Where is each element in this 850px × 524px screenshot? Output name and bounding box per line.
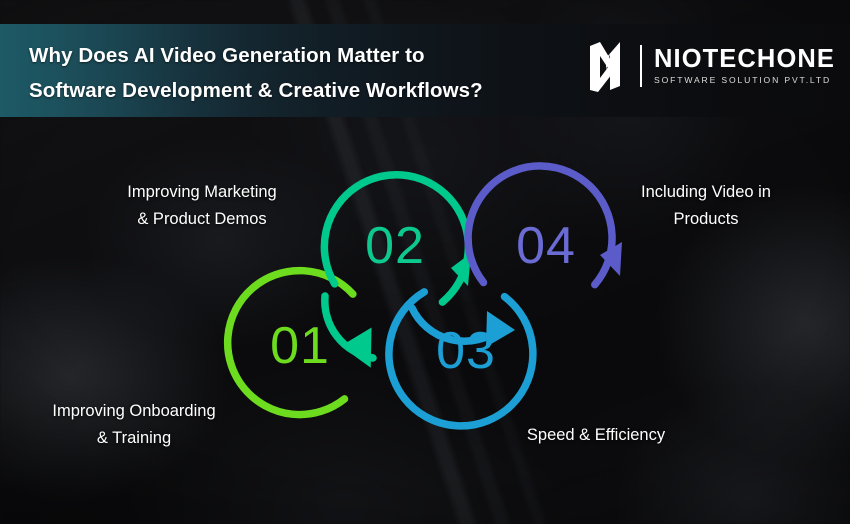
- step-number-01: 01: [270, 317, 330, 375]
- step-circle-03: 03: [389, 292, 533, 426]
- step-arrowhead-02: [341, 319, 390, 367]
- step-caption-01: Improving Onboarding & Training: [6, 398, 262, 452]
- step-caption-04: Including Video in Products: [598, 179, 814, 233]
- step-number-02: 02: [365, 217, 425, 275]
- step-caption-02: Improving Marketing & Product Demos: [78, 179, 326, 233]
- infographic-canvas: Why Does AI Video Generation Matter to S…: [0, 0, 850, 524]
- step-caption-03: Speed & Efficiency: [476, 422, 716, 449]
- step-number-03: 03: [436, 322, 496, 380]
- step-number-04: 04: [516, 217, 576, 275]
- step-circle-01: 01: [228, 271, 353, 415]
